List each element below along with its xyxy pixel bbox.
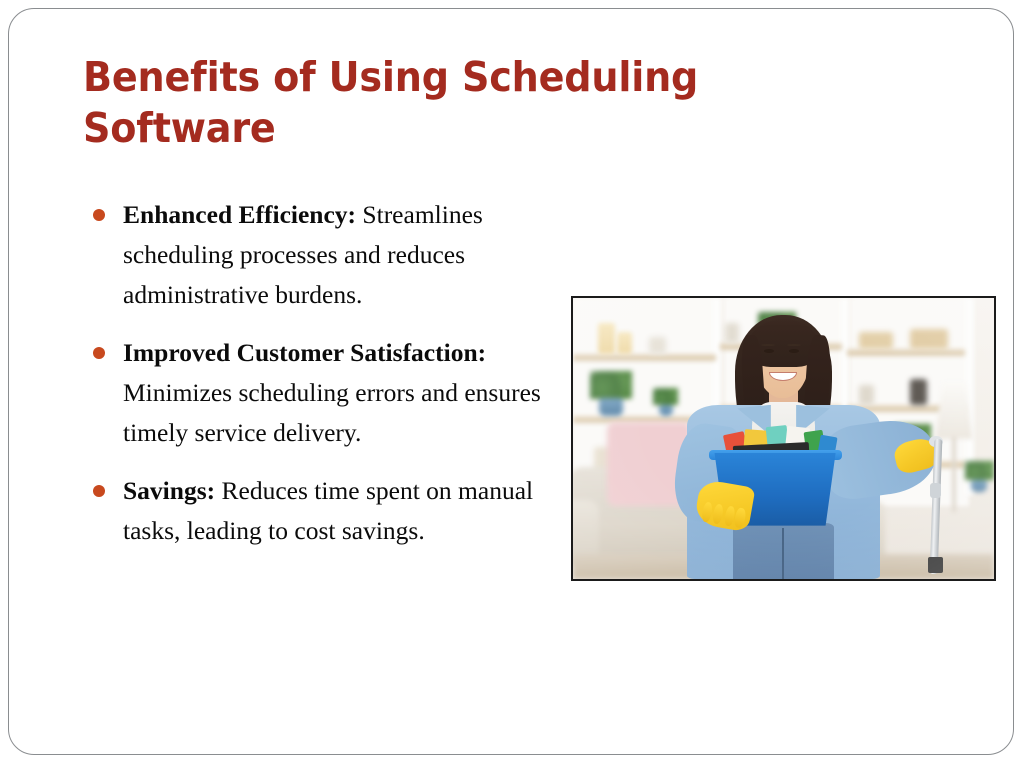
bullet-dot-icon xyxy=(93,209,105,221)
list-item-lead: Savings: xyxy=(123,476,215,505)
page-title: Benefits of Using Scheduling Software xyxy=(83,52,827,154)
bullet-list: Enhanced Efficiency: Streamlines schedul… xyxy=(87,195,575,551)
bullet-dot-icon xyxy=(93,485,105,497)
photo-content xyxy=(573,298,994,579)
cleaning-service-photo xyxy=(571,296,996,581)
person-figure xyxy=(573,298,994,579)
jeans-seam xyxy=(782,528,784,579)
slide-frame: Benefits of Using Scheduling Software En… xyxy=(8,8,1014,755)
eyebrow-right xyxy=(787,344,801,347)
list-item-lead: Enhanced Efficiency: xyxy=(123,200,356,229)
bullet-dot-icon xyxy=(93,347,105,359)
list-item: Enhanced Efficiency: Streamlines schedul… xyxy=(87,195,575,315)
mop-joint xyxy=(930,483,941,497)
list-item: Savings: Reduces time spent on manual ta… xyxy=(87,471,575,551)
list-item-body: Minimizes scheduling errors and ensures … xyxy=(123,378,541,447)
list-item-lead: Improved Customer Satisfaction: xyxy=(123,338,486,367)
eyebrow-left xyxy=(761,344,775,347)
list-item: Improved Customer Satisfaction: Minimize… xyxy=(87,333,575,453)
mop-head xyxy=(928,557,943,574)
